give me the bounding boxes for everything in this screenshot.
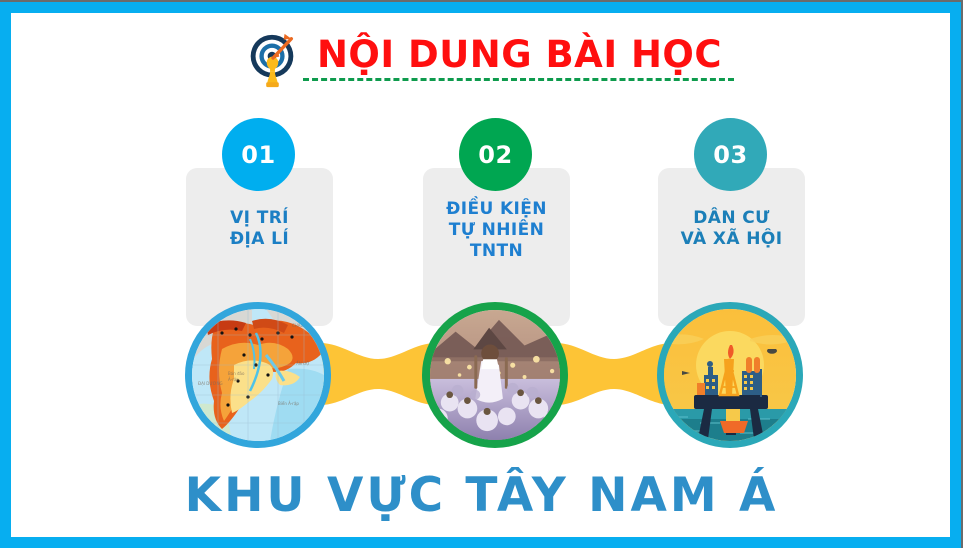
svg-text:ĐẠI DƯƠNG: ĐẠI DƯƠNG bbox=[198, 381, 223, 386]
connector-bowtie-1 bbox=[320, 343, 436, 405]
pilgrims-crowd-photo-icon[interactable] bbox=[422, 302, 568, 448]
step-card-1-label: VỊ TRÍ ĐỊA LÍ bbox=[186, 208, 333, 250]
svg-text:CHÂU Á: CHÂU Á bbox=[292, 323, 308, 328]
svg-text:Bán đảo: Bán đảo bbox=[228, 371, 245, 376]
step-card-2-label: ĐIỀU KIỆN TỰ NHIÊN TNTN bbox=[423, 199, 570, 262]
steps-container: VỊ TRÍ ĐỊA LÍ 01 ĐIỀU KIỆN TỰ NHIÊN TNTN… bbox=[0, 0, 963, 548]
map-southwest-asia-icon[interactable]: ĐẠI DƯƠNG CHÂU Á ẤN ĐỘ Biển Ả-rập Bán đả… bbox=[185, 302, 331, 448]
svg-text:Biển Ả-rập: Biển Ả-rập bbox=[278, 401, 299, 406]
footer-title: KHU VỰC TÂY NAM Á bbox=[0, 472, 963, 519]
step-badge-1[interactable]: 01 bbox=[222, 118, 295, 191]
step-card-3-label: DÂN CƯ VÀ XÃ HỘI bbox=[658, 208, 805, 250]
slide-canvas: NỘI DUNG BÀI HỌC VỊ TRÍ ĐỊA LÍ 01 ĐIỀU K… bbox=[0, 0, 963, 548]
step-badge-2[interactable]: 02 bbox=[459, 118, 532, 191]
step-badge-3[interactable]: 03 bbox=[694, 118, 767, 191]
offshore-oil-rig-icon[interactable] bbox=[657, 302, 803, 448]
svg-text:Ả-rập: Ả-rập bbox=[228, 377, 239, 382]
connector-bowtie-2 bbox=[556, 343, 672, 405]
